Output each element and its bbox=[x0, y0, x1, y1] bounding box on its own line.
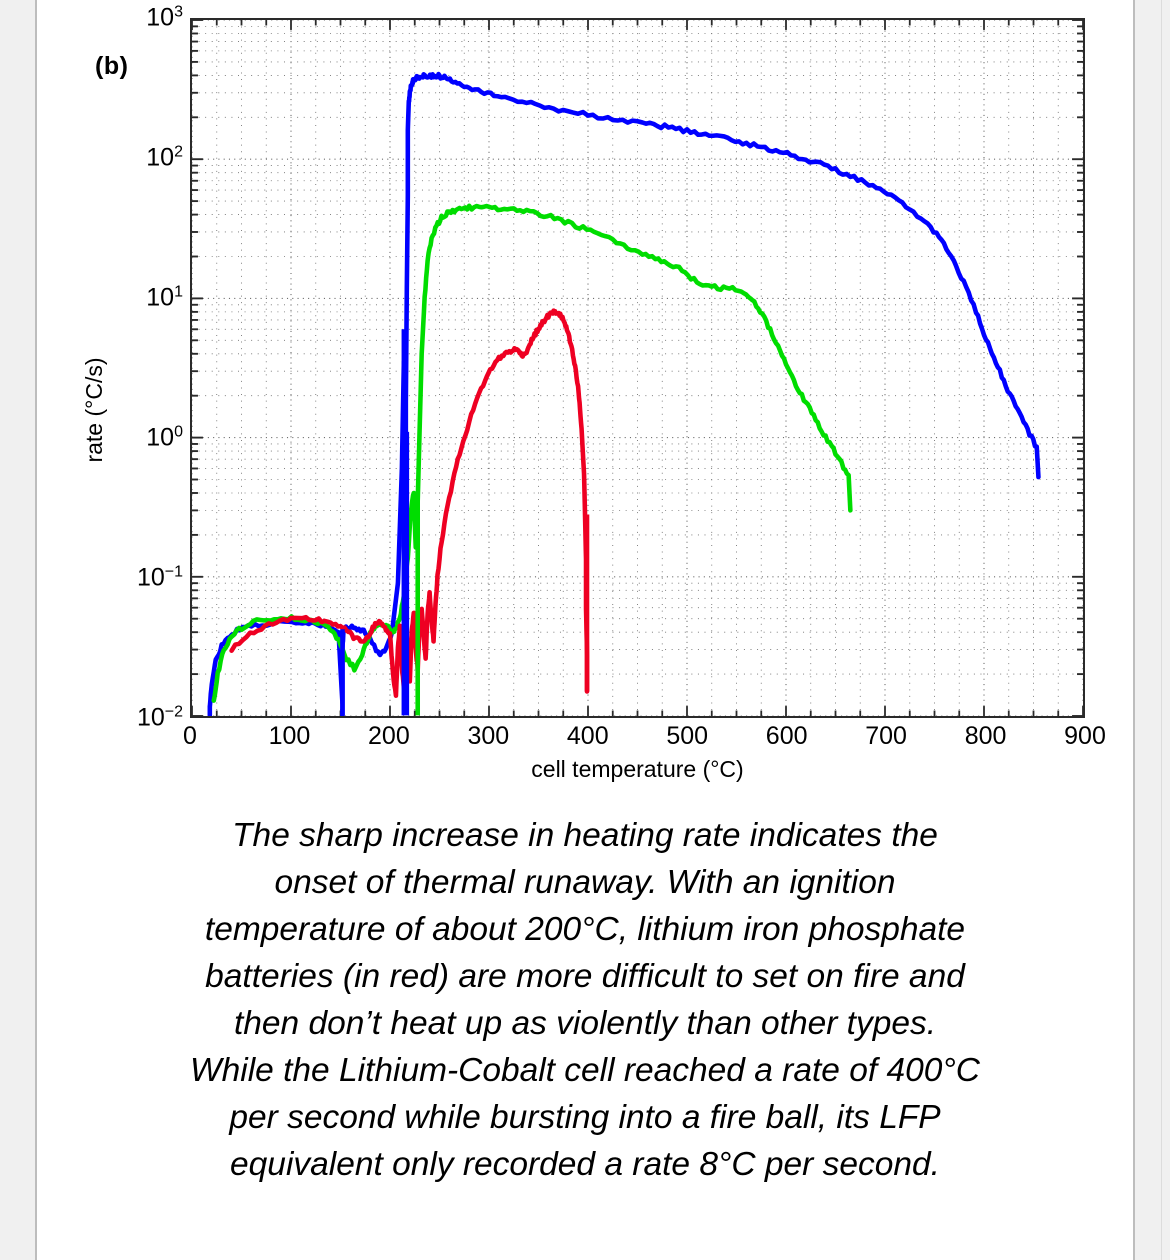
caption-line: While the Lithium-Cobalt cell reached a … bbox=[47, 1047, 1123, 1094]
y-tick-label: 100 bbox=[146, 423, 183, 452]
x-tick-label: 500 bbox=[666, 722, 708, 751]
curve-series-0 bbox=[210, 74, 1039, 716]
x-tick-label: 0 bbox=[183, 722, 197, 751]
plot-area bbox=[190, 18, 1085, 718]
plot-data-curves bbox=[192, 20, 1083, 716]
x-tick-label: 700 bbox=[865, 722, 907, 751]
y-tick-label: 10−2 bbox=[137, 703, 183, 732]
caption-line: The sharp increase in heating rate indic… bbox=[47, 812, 1123, 859]
caption-line: batteries (in red) are more difficult to… bbox=[47, 953, 1123, 1000]
x-tick-label: 800 bbox=[965, 722, 1007, 751]
figure-panel-b: (b) 10310210110010−110−2 rate (°C/s) 010… bbox=[37, 0, 1133, 800]
page-left-margin bbox=[0, 0, 37, 1260]
x-tick-label: 300 bbox=[467, 722, 509, 751]
y-axis-tick-labels: 10310210110010−110−2 bbox=[37, 18, 183, 718]
x-tick-label: 900 bbox=[1064, 722, 1106, 751]
caption-line: onset of thermal runaway. With an igniti… bbox=[47, 859, 1123, 906]
curve-series-2 bbox=[232, 311, 587, 696]
y-axis-title: rate (°C/s) bbox=[81, 260, 108, 560]
y-tick-label: 102 bbox=[146, 143, 183, 172]
y-tick-label: 101 bbox=[146, 283, 183, 312]
x-tick-label: 600 bbox=[766, 722, 808, 751]
caption-line: per second while bursting into a fire ba… bbox=[47, 1094, 1123, 1141]
figure-caption: The sharp increase in heating rate indic… bbox=[47, 812, 1123, 1188]
page-right-margin bbox=[1133, 0, 1170, 1260]
y-tick-label: 103 bbox=[146, 3, 183, 32]
caption-line: then don’t heat up as violently than oth… bbox=[47, 1000, 1123, 1047]
curve-series-1 bbox=[214, 206, 851, 701]
document-sheet: (b) 10310210110010−110−2 rate (°C/s) 010… bbox=[37, 0, 1133, 1260]
caption-line: equivalent only recorded a rate 8°C per … bbox=[47, 1141, 1123, 1188]
x-tick-label: 400 bbox=[567, 722, 609, 751]
x-tick-label: 200 bbox=[368, 722, 410, 751]
x-axis-title: cell temperature (°C) bbox=[190, 756, 1085, 783]
x-tick-label: 100 bbox=[269, 722, 311, 751]
y-tick-label: 10−1 bbox=[137, 563, 183, 592]
caption-line: temperature of about 200°C, lithium iron… bbox=[47, 906, 1123, 953]
